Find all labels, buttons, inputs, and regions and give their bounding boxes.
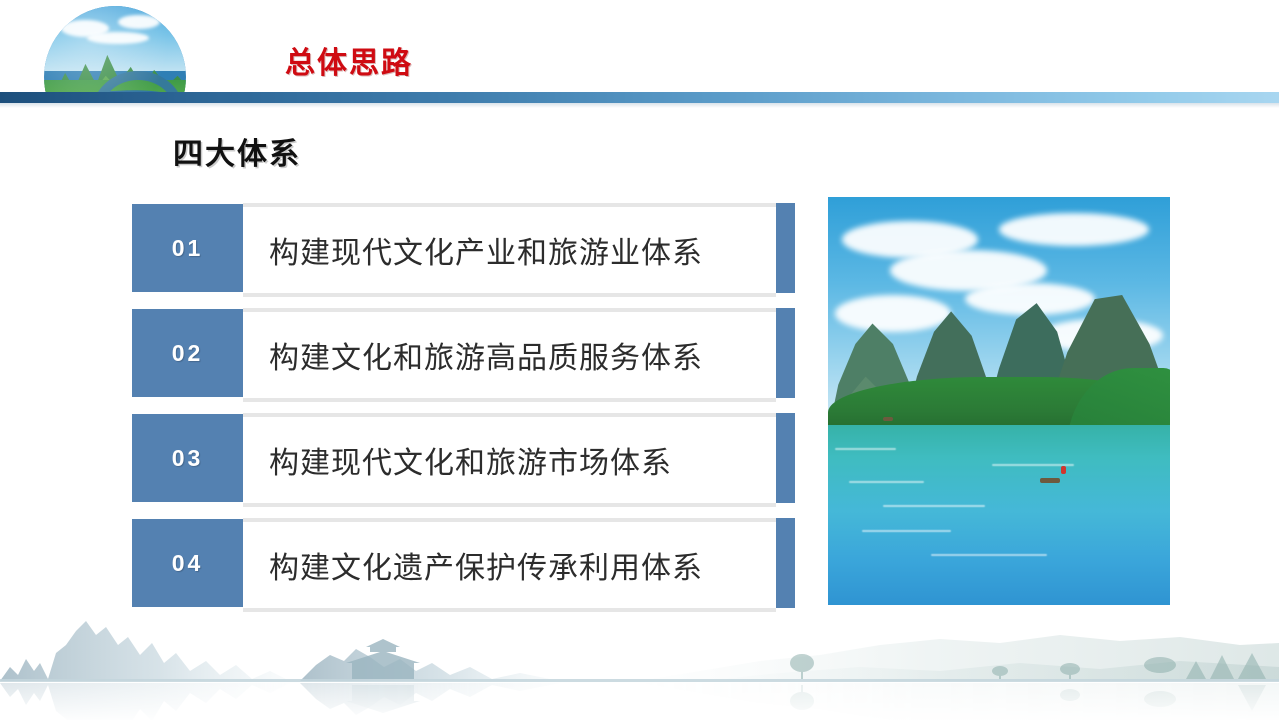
bamboo-raft bbox=[883, 417, 893, 421]
list-item-accent-bar bbox=[776, 413, 795, 503]
list-item-accent-bar bbox=[776, 518, 795, 608]
list-item-label: 构建文化和旅游高品质服务体系 bbox=[243, 333, 703, 377]
list-item-number: 02 bbox=[132, 309, 243, 397]
list-item-accent-bar bbox=[776, 308, 795, 398]
ink-wash-landscape bbox=[0, 605, 1279, 720]
page-title: 总体思路 bbox=[285, 38, 413, 82]
list-item[interactable]: 01 构建现代文化产业和旅游业体系 bbox=[132, 203, 795, 293]
list-item-label: 构建文化遗产保护传承利用体系 bbox=[243, 543, 703, 587]
list-item-number: 04 bbox=[132, 519, 243, 607]
water-glint bbox=[849, 481, 924, 483]
slide-root: 总体思路 四大体系 01 构建现代文化产业和旅游业体系 02 构建文化和旅游高品… bbox=[0, 0, 1279, 720]
list-item-label: 构建现代文化产业和旅游业体系 bbox=[243, 228, 703, 272]
list-item-body: 构建现代文化产业和旅游业体系 bbox=[243, 203, 776, 297]
list-item[interactable]: 04 构建文化遗产保护传承利用体系 bbox=[132, 518, 795, 608]
list-item[interactable]: 03 构建现代文化和旅游市场体系 bbox=[132, 413, 795, 503]
list-item-body: 构建现代文化和旅游市场体系 bbox=[243, 413, 776, 507]
list-item-body: 构建文化和旅游高品质服务体系 bbox=[243, 308, 776, 402]
header-accent-bar-shadow bbox=[0, 103, 1279, 108]
bottom-decoration bbox=[0, 605, 1279, 720]
bamboo-raft bbox=[1040, 478, 1060, 483]
four-systems-list: 01 构建现代文化产业和旅游业体系 02 构建文化和旅游高品质服务体系 03 构… bbox=[132, 203, 795, 623]
landscape-photo bbox=[828, 197, 1170, 605]
logo-circle-image bbox=[44, 6, 186, 100]
logo bbox=[44, 6, 186, 100]
cloud-icon bbox=[999, 213, 1149, 246]
header-accent-bar bbox=[0, 92, 1279, 103]
photo-water bbox=[828, 425, 1170, 605]
water-glint bbox=[931, 554, 1047, 556]
list-item-number: 01 bbox=[132, 204, 243, 292]
list-item-number: 03 bbox=[132, 414, 243, 502]
list-item-accent-bar bbox=[776, 203, 795, 293]
water-glint bbox=[835, 448, 897, 450]
list-item[interactable]: 02 构建文化和旅游高品质服务体系 bbox=[132, 308, 795, 398]
list-item-label: 构建现代文化和旅游市场体系 bbox=[243, 438, 672, 482]
list-item-body: 构建文化遗产保护传承利用体系 bbox=[243, 518, 776, 612]
slide-header: 总体思路 bbox=[0, 0, 1279, 105]
logo-shine bbox=[44, 6, 186, 100]
section-heading: 四大体系 bbox=[173, 129, 301, 173]
water-glint bbox=[862, 530, 951, 532]
water-glint bbox=[883, 505, 986, 507]
raft-person bbox=[1061, 466, 1066, 474]
